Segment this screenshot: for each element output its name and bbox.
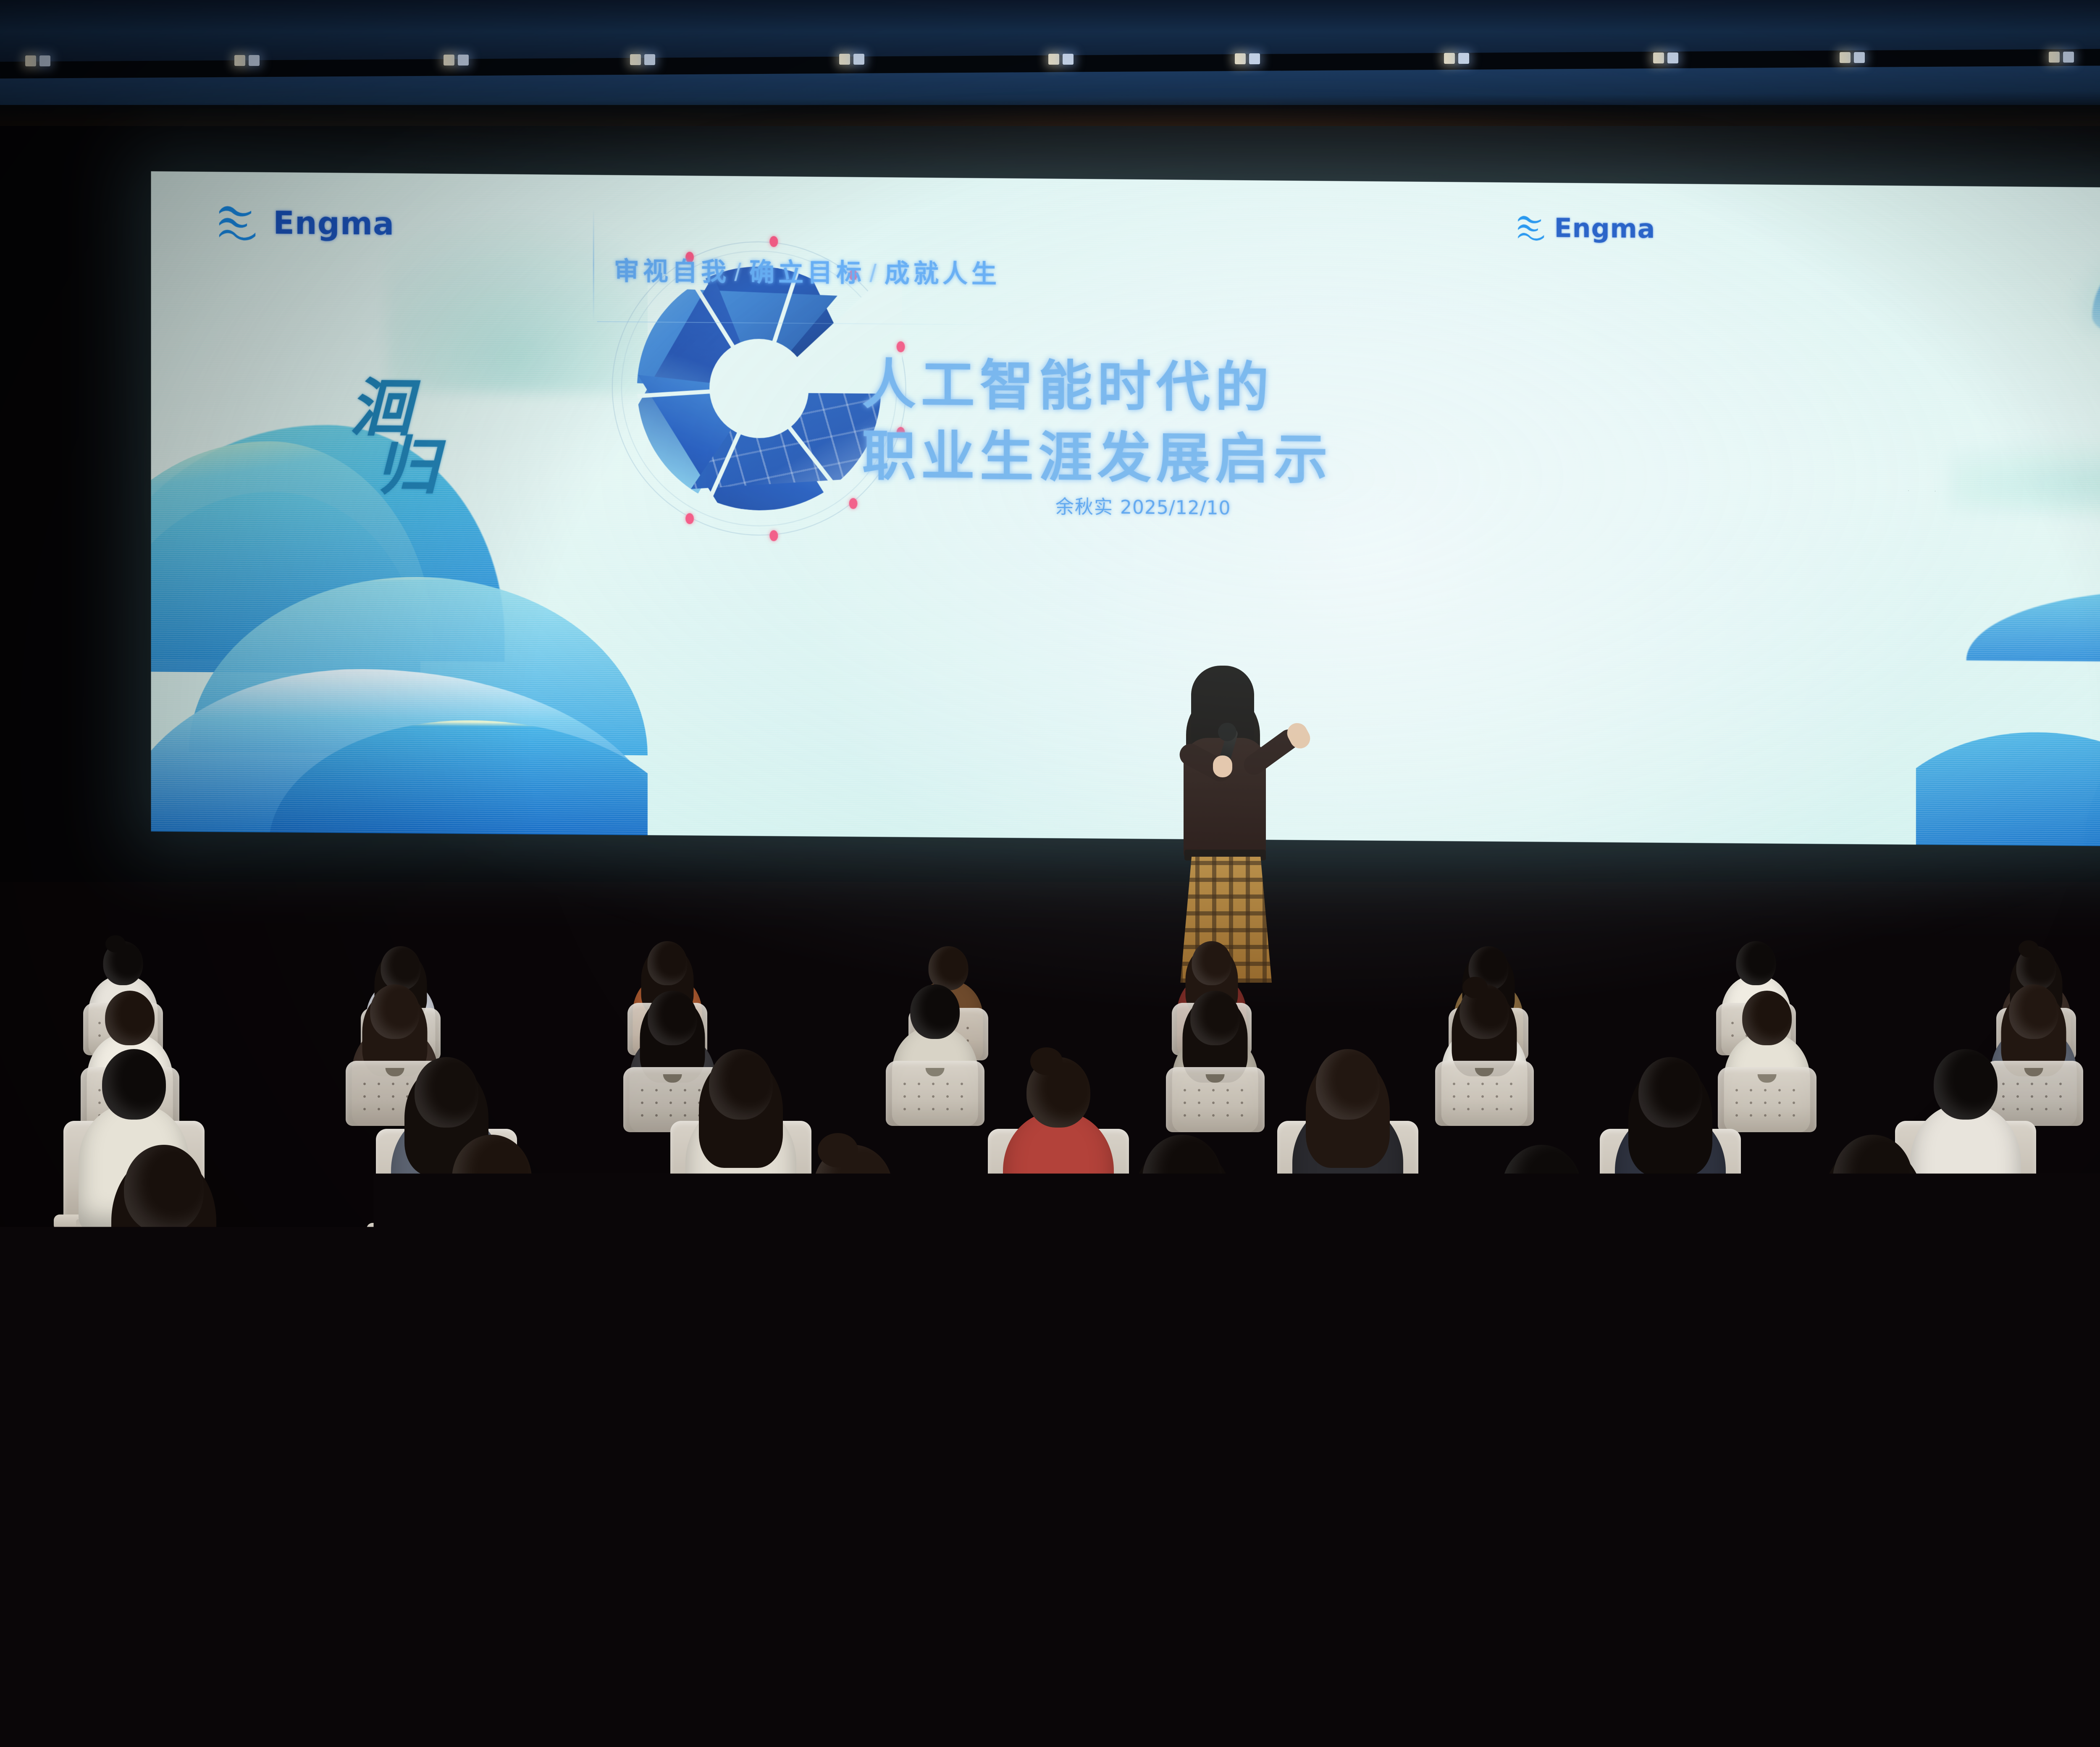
audience-head [1638, 1057, 1702, 1128]
chair-armrest [1298, 1731, 1382, 1747]
ceiling-light [25, 55, 36, 66]
eyebrow-separator-2: / [865, 259, 885, 287]
audience-head [1316, 1049, 1380, 1120]
chair-perforations [898, 1078, 973, 1115]
chair-leg [1049, 1529, 1058, 1652]
ceiling-light [853, 54, 864, 65]
audience-member [1094, 1120, 1270, 1355]
chair-armrest [974, 1731, 1058, 1747]
chair-handle-slot [1530, 1613, 1578, 1632]
chair-perforations [2080, 1635, 2100, 1723]
auditorium-chair [483, 1596, 735, 1747]
three-wave-lines-icon [218, 205, 262, 241]
chair-leg [2018, 1219, 2024, 1296]
chair-handle-slot [1215, 1613, 1263, 1632]
chair-armrest [466, 1731, 550, 1747]
audience-head [1450, 1419, 1591, 1555]
auditorium-chair [1435, 1061, 1534, 1126]
auditorium-chair [1113, 1596, 1365, 1747]
auditorium-chair [790, 1596, 1042, 1747]
ceiling-light [234, 55, 245, 66]
three-wave-lines-icon [1517, 215, 1549, 241]
auditorium-chair [193, 1596, 445, 1747]
chair-armrest [1096, 1731, 1180, 1747]
collage-ring-dot [769, 236, 778, 247]
audience-head [1134, 1436, 1285, 1582]
chair-armrest [773, 1731, 857, 1747]
ceiling-light [458, 55, 469, 66]
audience-head [830, 1419, 976, 1560]
ceiling-light [1667, 52, 1678, 63]
chair-armrest [378, 1731, 462, 1747]
auditorium-chair [1428, 1596, 1680, 1747]
audience-head [58, 1436, 194, 1571]
audience-hair-bun [920, 1240, 972, 1284]
chair-leg [1110, 1348, 1117, 1445]
ceiling-light [1063, 54, 1074, 65]
microphone-icon [118, 870, 132, 910]
ceiling-light [1840, 52, 1851, 63]
auditorium-chair [2050, 1596, 2100, 1747]
audience-torso [1473, 1214, 1611, 1373]
audience-head [452, 1135, 532, 1223]
ceiling-light [249, 55, 260, 66]
slide-byline: 余秋实2025/12/10 [1055, 492, 1231, 520]
audience-head [570, 1436, 707, 1566]
audience-member [1277, 1037, 1418, 1225]
audience-head [709, 1049, 773, 1120]
audience-head [114, 1255, 216, 1368]
chair-handle-slot [892, 1613, 940, 1632]
auditorium-chair [0, 1596, 164, 1747]
ceiling-light [630, 54, 641, 65]
calligraphy-left-char1: 洄 [349, 379, 438, 438]
audience-hair-bun [105, 935, 126, 952]
ceiling-light [1458, 53, 1469, 64]
chair-handle-slot [295, 1613, 343, 1632]
chair-armrest [1726, 1731, 1810, 1747]
audience-head [1743, 991, 1792, 1045]
eyebrow-part-2: 确立目标 [749, 258, 865, 287]
chair-armrest [97, 1731, 181, 1747]
ceiling-light [839, 54, 850, 65]
audience-hair-bun [1030, 1047, 1063, 1075]
auditorium-chair [1743, 1596, 1995, 1747]
audience-head [305, 1419, 451, 1560]
ceiling-light [1235, 53, 1246, 64]
auditorium-photo: Engma Engma 洄 归 洄 归 [0, 0, 2100, 1747]
ceiling-light [644, 54, 655, 65]
chair-leg [1938, 1348, 1945, 1445]
audience-head [911, 984, 960, 1039]
chair-armrest [1928, 1731, 2012, 1747]
chair-armrest [1411, 1731, 1495, 1747]
collage-ring-dot [849, 498, 857, 509]
audience-head [1833, 1135, 1913, 1223]
ceiling-light [2063, 52, 2074, 63]
ceiling-light [1249, 53, 1260, 64]
ceiling-light [1854, 52, 1865, 63]
chair-armrest [1613, 1731, 1697, 1747]
chair-handle-slot [14, 1613, 62, 1632]
audience-head [535, 1268, 637, 1381]
chair-armrest [176, 1731, 260, 1747]
audience-hair-bun [818, 1133, 858, 1167]
ceiling-light [39, 55, 50, 66]
chair-perforations [1773, 1635, 1965, 1723]
eyebrow-part-1: 审视自我 [614, 257, 730, 286]
microphone-icon [139, 868, 154, 909]
chair-perforations [820, 1635, 1011, 1723]
slide-eyebrow: 审视自我/确立目标/成就人生 [614, 251, 1000, 291]
chair-handle-slot [1845, 1613, 1893, 1632]
chair-perforations [1447, 1078, 1522, 1115]
speaker-name: 余秋实 [1055, 497, 1113, 518]
ceiling-light [1048, 54, 1059, 65]
title-vertical-rule [593, 209, 594, 322]
audience-head [1192, 941, 1231, 985]
slide-title-line-1: 人工智能时代的 [862, 341, 1274, 422]
collage-center-hole [709, 338, 808, 438]
audience-head [2009, 984, 2059, 1039]
calligraphy-left-char2: 归 [375, 437, 438, 496]
brand-logo-secondary: Engma [1517, 213, 1655, 244]
presentation-screen: Engma Engma 洄 归 洄 归 [151, 171, 2100, 848]
eyebrow-separator-1: / [730, 258, 749, 286]
eyebrow-part-3: 成就人生 [885, 259, 1000, 288]
audience-head [1741, 1436, 1887, 1577]
audience-head [415, 1057, 478, 1128]
ceiling-light [444, 55, 454, 66]
audience-head [1142, 1135, 1222, 1223]
chair-perforations [1458, 1635, 1650, 1723]
brand-wordmark: Engma [273, 205, 394, 242]
calligraphy-left: 洄 归 [349, 379, 438, 496]
chair-handle-slot [585, 1613, 633, 1632]
chair-perforations [0, 1635, 134, 1723]
audience-hair-bun [1462, 977, 1488, 998]
presenter-left-hand [1213, 755, 1232, 777]
audience-head [1714, 1255, 1816, 1368]
ceiling-light [1653, 52, 1664, 63]
auditorium-chair [886, 1061, 985, 1126]
chair-perforations [1178, 1084, 1253, 1122]
chair-armrest [668, 1731, 752, 1747]
audience-head [1323, 1268, 1425, 1381]
microphone-head [1218, 723, 1236, 741]
chair-leg [1247, 1348, 1255, 1445]
collage-ring-dot [685, 513, 694, 524]
audience-head [124, 1145, 204, 1233]
brand-logo-primary: Engma [218, 205, 394, 242]
chair-perforations [513, 1635, 705, 1723]
audience-head [370, 984, 420, 1039]
chair-leg [388, 1227, 394, 1304]
brand-wordmark-secondary: Engma [1554, 213, 1655, 244]
slide-title-line-2: 职业生涯发展启示 [862, 412, 1333, 494]
audience-head [1934, 1049, 1998, 1120]
ceiling-light [1444, 53, 1455, 64]
audience-head [647, 941, 687, 985]
audience-head [1736, 941, 1776, 985]
audience-hair-bun [2019, 940, 2039, 957]
slide-date: 2025/12/10 [1113, 497, 1231, 519]
chair-armrest [2033, 1731, 2100, 1747]
chair-perforations [1143, 1635, 1335, 1723]
audience-head [102, 1049, 166, 1120]
chair-perforations [223, 1635, 415, 1723]
audience-head [1502, 1145, 1582, 1233]
audience-head [1191, 991, 1240, 1045]
ceiling-light [2049, 52, 2060, 63]
